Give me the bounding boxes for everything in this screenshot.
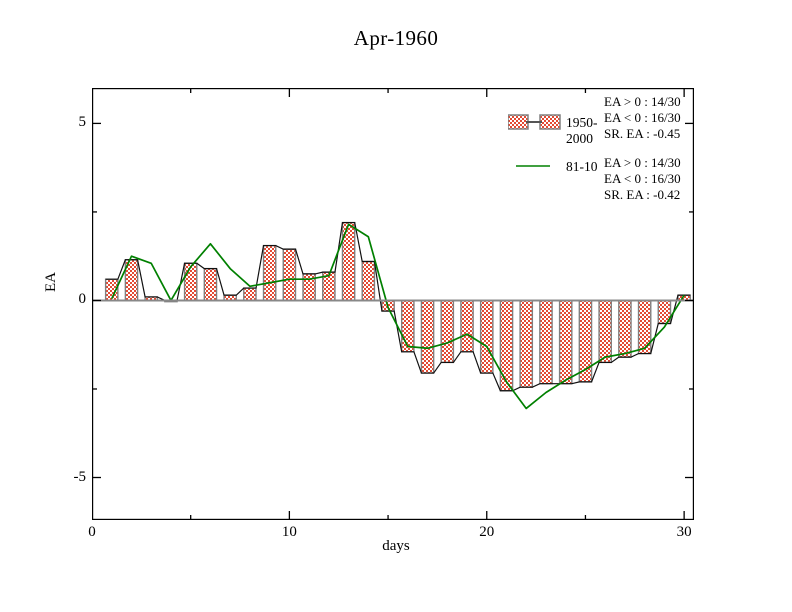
stat-ea-positive-1: EA > 0 : 14/30: [604, 94, 681, 110]
figure: Apr-1960 days EA 50-5 0102030 1950-2000: [0, 0, 792, 612]
page-title: Apr-1960: [0, 26, 792, 51]
bar: [441, 300, 453, 362]
x-tick-label: 0: [72, 524, 112, 541]
bar-series-1950-2000: [106, 223, 691, 391]
bar: [639, 300, 651, 353]
y-tick-label: -5: [46, 469, 86, 486]
bar: [421, 300, 433, 373]
bar: [461, 300, 473, 351]
y-tick-label: 5: [46, 114, 86, 131]
x-tick-label: 20: [467, 524, 507, 541]
bar: [362, 262, 374, 301]
y-tick-label: 0: [46, 291, 86, 308]
bar: [520, 300, 532, 387]
bar: [283, 249, 295, 300]
stat-sr-ea-1: SR. EA : -0.45: [604, 126, 681, 142]
bar: [619, 300, 631, 357]
legend-item-bar: 1950-2000: [508, 112, 618, 156]
bar: [402, 300, 414, 351]
bar: [481, 300, 493, 373]
legend-label-line: 81-10: [566, 159, 598, 175]
bar: [599, 300, 611, 362]
stat-ea-negative-2: EA < 0 : 16/30: [604, 171, 681, 187]
legend-line-swatch-icon: [516, 156, 572, 176]
x-tick-label: 10: [269, 524, 309, 541]
legend-item-line: 81-10: [508, 156, 618, 200]
bar: [540, 300, 552, 383]
stat-ea-negative-1: EA < 0 : 16/30: [604, 110, 681, 126]
bar: [560, 300, 572, 383]
stat-ea-positive-2: EA > 0 : 14/30: [604, 155, 681, 171]
stat-sr-ea-2: SR. EA : -0.42: [604, 187, 681, 203]
bar: [204, 269, 216, 301]
legend: 1950-2000 81-10: [508, 112, 618, 200]
line-series-81-10: [112, 224, 684, 408]
stats-block-81-10: EA > 0 : 14/30 EA < 0 : 16/30 SR. EA : -…: [604, 155, 681, 203]
bar: [264, 246, 276, 301]
stats-block-1950-2000: EA > 0 : 14/30 EA < 0 : 16/30 SR. EA : -…: [604, 94, 681, 142]
y-axis-label: EA: [43, 272, 60, 292]
x-tick-label: 30: [664, 524, 704, 541]
bar: [185, 263, 197, 300]
legend-bar-swatch-icon: [508, 112, 564, 132]
bar: [500, 300, 512, 390]
bar: [244, 288, 256, 300]
